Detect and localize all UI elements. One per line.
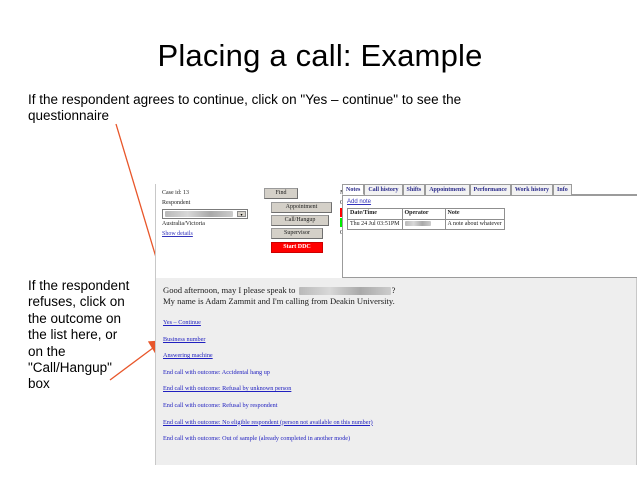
tab-notes[interactable]: Notes — [342, 184, 364, 195]
operator-redacted-value — [405, 221, 431, 226]
option-accidental-hang-up[interactable]: End call with outcome: Accidental hang u… — [163, 369, 270, 376]
option-no-eligible-respondent[interactable]: End call with outcome: No eligible respo… — [163, 419, 373, 426]
col-note: Note — [445, 209, 504, 220]
tab-row: Notes Call history Shifts Appointments P… — [342, 184, 637, 196]
supervisor-button[interactable]: Supervisor — [271, 228, 323, 239]
respondent-select[interactable]: ▾ — [162, 209, 248, 219]
tab-work-history[interactable]: Work history — [511, 184, 553, 195]
notes-tab-body: Add note Date/Time Operator Note Thu 24 … — [342, 196, 637, 278]
tab-shifts[interactable]: Shifts — [403, 184, 426, 195]
table-row[interactable]: Thu 24 Jul 03:51PM A note about whatever — [348, 219, 505, 230]
case-info-panel: Case id: 13 Respondent ▾ Australia/Victo… — [162, 189, 257, 239]
tab-performance[interactable]: Performance — [470, 184, 511, 195]
embedded-app-screenshot: Case id: 13 Respondent ▾ Australia/Victo… — [155, 184, 637, 465]
tab-call-history[interactable]: Call history — [364, 184, 402, 195]
call-hangup-button[interactable]: Call/Hangup — [271, 215, 329, 226]
action-button-column: Find Appointment Call/Hangup Supervisor … — [264, 188, 334, 253]
annotation-text-left: If the respondent refuses, click on the … — [28, 278, 134, 393]
notes-table-header-row: Date/Time Operator Note — [348, 209, 505, 220]
call-script-body: Good afternoon, may I please speak to ? … — [155, 278, 637, 465]
option-answering-machine[interactable]: Answering machine — [163, 352, 213, 359]
respondent-redacted-value — [165, 211, 233, 217]
option-refusal-respondent[interactable]: End call with outcome: Refusal by respon… — [163, 402, 277, 409]
script-line-1: Good afternoon, may I please speak to ? — [163, 285, 636, 296]
case-id-label: Case id: 13 — [162, 189, 257, 199]
option-refusal-unknown-person[interactable]: End call with outcome: Refusal by unknow… — [163, 385, 291, 392]
cell-operator — [402, 219, 445, 230]
cell-datetime: Thu 24 Jul 03:51PM — [348, 219, 403, 230]
script-line-1-pre: Good afternoon, may I please speak to — [163, 285, 298, 295]
respondent-label: Respondent — [162, 199, 257, 209]
add-note-link[interactable]: Add note — [347, 199, 637, 205]
respondent-name-redacted — [299, 287, 391, 295]
appointment-button[interactable]: Appointment — [271, 202, 332, 213]
tab-row-filler — [572, 184, 637, 195]
script-line-2: My name is Adam Zammit and I'm calling f… — [163, 296, 636, 307]
start-ddc-button[interactable]: Start DDC — [271, 242, 323, 253]
tab-appointments[interactable]: Appointments — [425, 184, 469, 195]
script-line-1-post: ? — [392, 285, 396, 295]
col-operator: Operator — [402, 209, 445, 220]
notes-table: Date/Time Operator Note Thu 24 Jul 03:51… — [347, 208, 505, 230]
chevron-down-icon[interactable]: ▾ — [237, 211, 246, 217]
timezone-label: Australia/Victoria — [162, 220, 257, 230]
find-button[interactable]: Find — [264, 188, 298, 199]
tab-panel: Notes Call history Shifts Appointments P… — [342, 184, 637, 278]
annotation-text-top: If the respondent agrees to continue, cl… — [28, 92, 478, 124]
page-title: Placing a call: Example — [0, 38, 640, 74]
option-business-number[interactable]: Business number — [163, 336, 205, 343]
option-out-of-sample[interactable]: End call with outcome: Out of sample (al… — [163, 435, 350, 442]
tab-info[interactable]: Info — [553, 184, 572, 195]
option-yes-continue[interactable]: Yes – Continue — [163, 319, 201, 326]
col-datetime: Date/Time — [348, 209, 403, 220]
app-toolbar-area: Case id: 13 Respondent ▾ Australia/Victo… — [155, 184, 637, 278]
cell-note: A note about whatever — [445, 219, 504, 230]
show-details-link[interactable]: Show details — [162, 230, 257, 240]
